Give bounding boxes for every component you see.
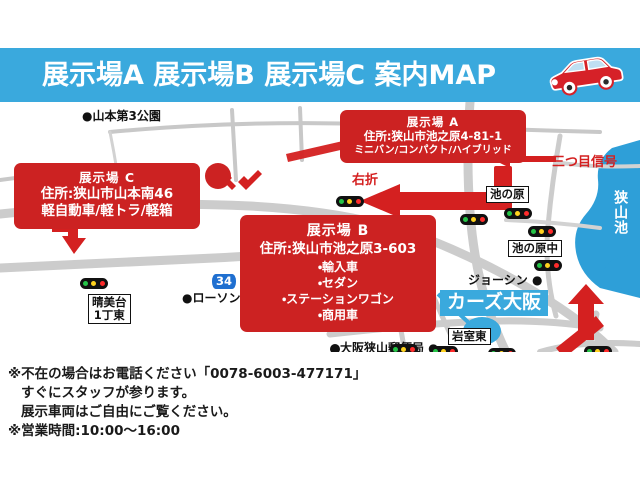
header-band: 展示場A 展示場B 展示場C 案内MAP (0, 48, 640, 102)
intersection-ikenohara: 池の原 (486, 186, 529, 203)
footer-notes: ※不在の場合はお電話ください「0078-6003-477171」 すぐにスタッフ… (8, 365, 366, 442)
dealer-label-cars-osaka: カーズ大阪 (440, 290, 548, 316)
route-shield-34: 34 (212, 274, 236, 289)
showroom-b-vehicle-item: ・セダン (244, 276, 432, 292)
callout-showroom-a: 展示場 A 住所:狭山市池之原4-81-1 ミニバン/コンパクト/ハイブリッド (340, 110, 526, 163)
turn-instruction-label: 右折 (352, 174, 378, 187)
showroom-a-vehicle-types: ミニバン/コンパクト/ハイブリッド (344, 144, 522, 157)
showroom-c-address: 住所:狭山市山本南46 (18, 186, 196, 204)
footer-note-line: 展示車両はご自由にご覧ください。 (8, 403, 366, 422)
water-label-sayama-pond: 狭山池 (612, 190, 627, 235)
footer-note-line: ※不在の場合はお電話ください「0078-6003-477171」 (8, 365, 366, 384)
traffic-signal-icon (460, 214, 488, 225)
showroom-a-marker (205, 163, 231, 189)
poi-label-joshin: ジョーシン ● (468, 274, 542, 286)
traffic-signal-icon (504, 208, 532, 219)
page-title: 展示場A 展示場B 展示場C 案内MAP (42, 62, 496, 89)
footer-note-line: すぐにスタッフが参ります。 (8, 384, 366, 403)
showroom-c-name: 展示場 C (18, 170, 196, 186)
showroom-a-address: 住所:狭山市池之原4-81-1 (344, 129, 522, 144)
traffic-signal-icon (534, 260, 562, 271)
showroom-b-address: 住所:狭山市池之原3-603 (244, 241, 432, 259)
callout-showroom-c: 展示場 C 住所:狭山市山本南46 軽自動車/軽トラ/軽箱 (14, 163, 200, 229)
traffic-signal-icon (390, 344, 418, 352)
showroom-b-vehicle-item: ・ステーションワゴン (244, 292, 432, 308)
poi-label-yamamoto-park: ●山本第3公園 (82, 110, 161, 122)
showroom-a-name: 展示場 A (344, 115, 522, 129)
traffic-signal-icon (336, 196, 364, 207)
showroom-b-name: 展示場 B (244, 223, 432, 241)
callout-showroom-b: 展示場 B 住所:狭山市池之原3-603 ・輸入車 ・セダン ・ステーションワゴ… (240, 215, 436, 332)
poi-label-lawson: ●ローソン (182, 292, 240, 304)
footer-area: ※不在の場合はお電話ください「0078-6003-477171」 すぐにスタッフ… (0, 352, 640, 480)
traffic-signal-icon (528, 226, 556, 237)
top-margin (0, 0, 640, 48)
route-arrow-to-showroom (360, 184, 400, 218)
poi-dot (330, 344, 340, 352)
showroom-b-vehicle-item: ・商用車 (244, 308, 432, 324)
red-car-icon (544, 52, 628, 100)
traffic-signal-icon (80, 278, 108, 289)
intersection-harumidai: 晴美台 1丁東 (88, 294, 131, 324)
showroom-b-vehicle-item: ・輸入車 (244, 260, 432, 276)
showroom-c-vehicle-types: 軽自動車/軽トラ/軽箱 (18, 203, 196, 221)
intersection-iwamuro-higashi: 岩室東 (448, 328, 491, 345)
footer-note-line: ※営業時間:10:00～16:00 (8, 422, 366, 441)
signal-instruction-label: 三つ目信号 (552, 156, 617, 169)
map-flyer: 展示場A 展示場B 展示場C 案内MAP (0, 0, 640, 480)
intersection-ikenohara-naka: 池の原中 (508, 240, 562, 257)
